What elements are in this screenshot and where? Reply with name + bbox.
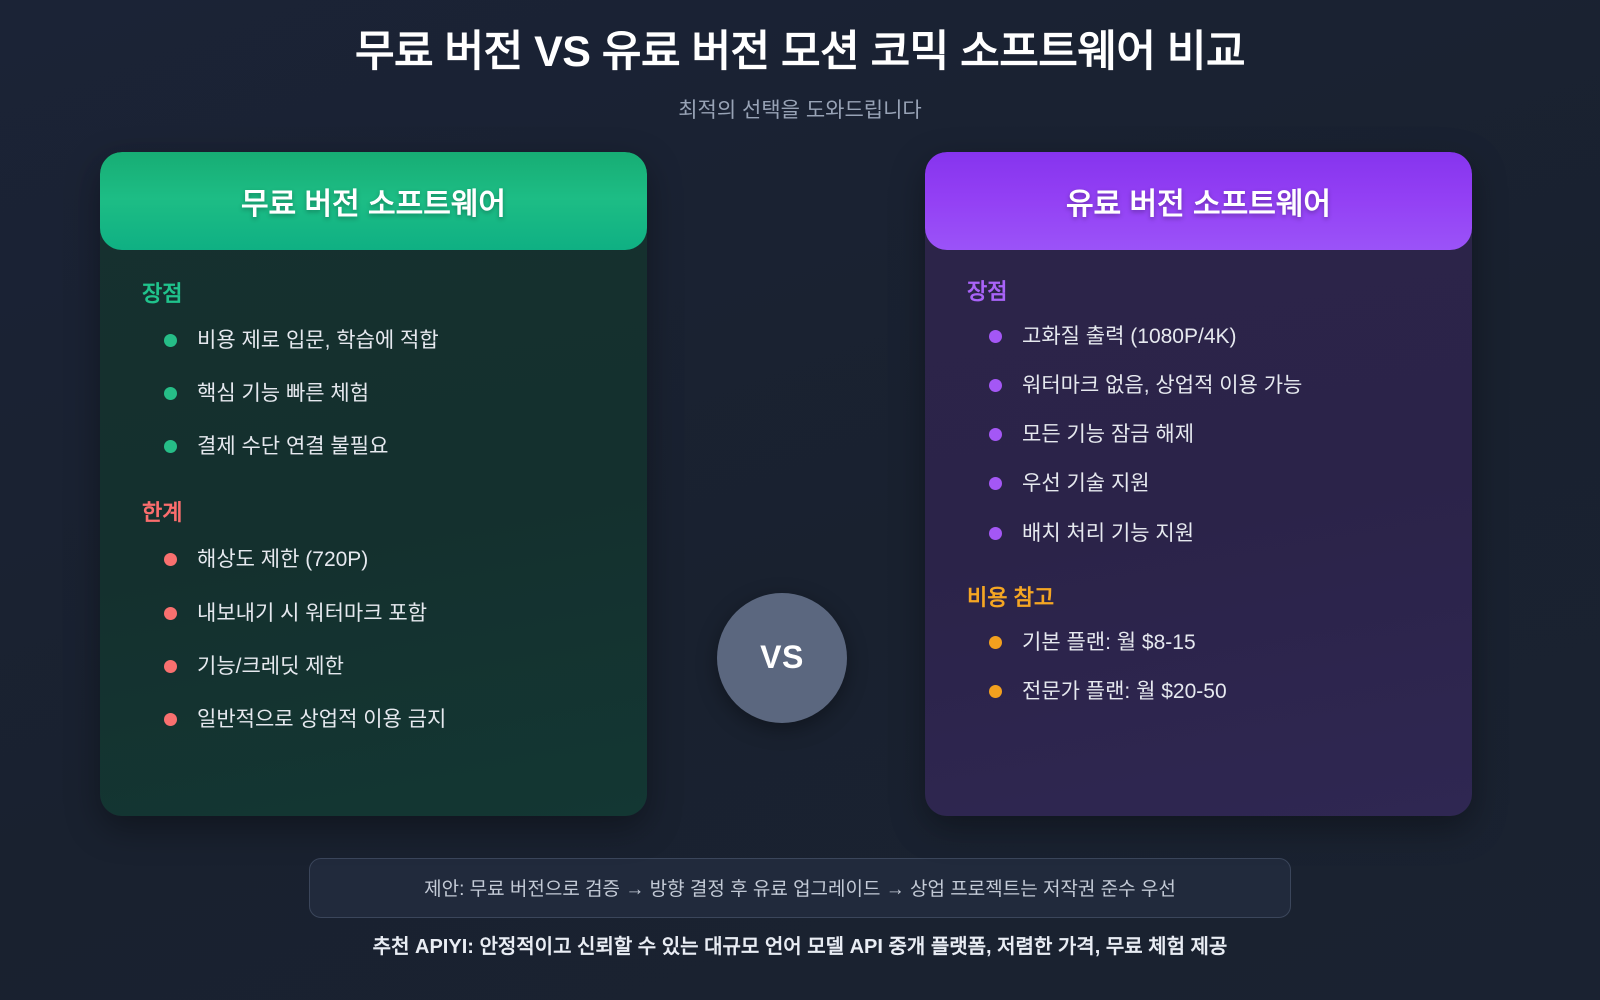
list-item-label: 핵심 기능 빠른 체험	[197, 381, 369, 406]
bullet-dot-icon	[989, 330, 1002, 343]
list-item-label: 배치 처리 기능 지원	[1022, 521, 1194, 546]
bullet-dot-icon	[989, 379, 1002, 392]
list-item-label: 기능/크레딧 제한	[197, 654, 344, 679]
free-pros-list: 비용 제로 입문, 학습에 적합 핵심 기능 빠른 체험 결제 수단 연결 불필…	[142, 314, 605, 474]
bullet-dot-icon	[989, 428, 1002, 441]
list-item: 배치 처리 기능 지원	[967, 509, 1430, 558]
paid-pros-list: 고화질 출력 (1080P/4K) 워터마크 없음, 상업적 이용 가능 모든 …	[967, 312, 1430, 558]
free-cons-section: 한계 해상도 제한 (720P) 내보내기 시 워터마크 포함 기능/크레	[142, 495, 605, 746]
free-card-body: 장점 비용 제로 입문, 학습에 적합 핵심 기능 빠른 체험 결제 수단	[100, 250, 647, 746]
list-item-label: 전문가 플랜: 월 $20-50	[1022, 679, 1227, 704]
bullet-dot-icon	[164, 387, 177, 400]
paid-pros-section: 장점 고화질 출력 (1080P/4K) 워터마크 없음, 상업적 이용 가능	[967, 274, 1430, 558]
free-pros-title: 장점	[142, 276, 605, 308]
list-item: 해상도 제한 (720P)	[142, 533, 605, 586]
bullet-dot-icon	[989, 636, 1002, 649]
list-item: 비용 제로 입문, 학습에 적합	[142, 314, 605, 367]
vs-badge-label: VS	[760, 639, 804, 676]
list-item-label: 내보내기 시 워터마크 포함	[197, 601, 427, 626]
list-item-label: 우선 기술 지원	[1022, 471, 1150, 496]
bullet-dot-icon	[164, 713, 177, 726]
list-item: 고화질 출력 (1080P/4K)	[967, 312, 1430, 361]
free-version-card: 무료 버전 소프트웨어 장점 비용 제로 입문, 학습에 적합 핵심 기능 빠른…	[100, 152, 647, 816]
free-pros-section: 장점 비용 제로 입문, 학습에 적합 핵심 기능 빠른 체험 결제 수단	[142, 276, 605, 474]
list-item-label: 모든 기능 잠금 해제	[1022, 422, 1194, 447]
paid-card-body: 장점 고화질 출력 (1080P/4K) 워터마크 없음, 상업적 이용 가능	[925, 250, 1472, 716]
bullet-dot-icon	[164, 607, 177, 620]
list-item-label: 결제 수단 연결 불필요	[197, 434, 388, 459]
list-item: 우선 기술 지원	[967, 459, 1430, 508]
paid-card-title: 유료 버전 소프트웨어	[1066, 179, 1331, 223]
list-item-label: 비용 제로 입문, 학습에 적합	[197, 328, 439, 353]
paid-card-header: 유료 버전 소프트웨어	[925, 152, 1472, 250]
list-item: 일반적으로 상업적 이용 금지	[142, 693, 605, 746]
list-item: 결제 수단 연결 불필요	[142, 420, 605, 473]
footer: 제안: 무료 버전으로 검증 → 방향 결정 후 유료 업그레이드 → 상업 프…	[0, 842, 1600, 959]
list-item-label: 기본 플랜: 월 $8-15	[1022, 630, 1196, 655]
paid-cost-list: 기본 플랜: 월 $8-15 전문가 플랜: 월 $20-50	[967, 618, 1430, 716]
paid-version-card: 유료 버전 소프트웨어 장점 고화질 출력 (1080P/4K) 워터마크 없음…	[925, 152, 1472, 816]
bullet-dot-icon	[164, 440, 177, 453]
bullet-dot-icon	[989, 527, 1002, 540]
bullet-dot-icon	[164, 660, 177, 673]
free-cons-list: 해상도 제한 (720P) 내보내기 시 워터마크 포함 기능/크레딧 제한	[142, 533, 605, 746]
bullet-dot-icon	[989, 685, 1002, 698]
list-item-label: 고화질 출력 (1080P/4K)	[1022, 324, 1237, 349]
paid-pros-title: 장점	[967, 274, 1430, 306]
page-subtitle: 최적의 선택을 도와드립니다	[0, 94, 1600, 124]
bullet-dot-icon	[989, 477, 1002, 490]
comparison-area: 무료 버전 소프트웨어 장점 비용 제로 입문, 학습에 적합 핵심 기능 빠른…	[0, 152, 1600, 842]
list-item-label: 일반적으로 상업적 이용 금지	[197, 707, 446, 732]
paid-cost-section: 비용 참고 기본 플랜: 월 $8-15 전문가 플랜: 월 $20-50	[967, 580, 1430, 716]
list-item: 핵심 기능 빠른 체험	[142, 367, 605, 420]
free-cons-title: 한계	[142, 495, 605, 527]
promo-text: 추천 APIYI: 안정적이고 신뢰할 수 있는 대규모 언어 모델 API 중…	[373, 930, 1228, 959]
list-item: 내보내기 시 워터마크 포함	[142, 587, 605, 640]
list-item: 기본 플랜: 월 $8-15	[967, 618, 1430, 667]
list-item: 모든 기능 잠금 해제	[967, 410, 1430, 459]
list-item: 기능/크레딧 제한	[142, 640, 605, 693]
free-card-title: 무료 버전 소프트웨어	[241, 179, 506, 223]
advice-box: 제안: 무료 버전으로 검증 → 방향 결정 후 유료 업그레이드 → 상업 프…	[309, 858, 1291, 918]
list-item-label: 해상도 제한 (720P)	[197, 547, 368, 572]
paid-cost-title: 비용 참고	[967, 580, 1430, 612]
header: 무료 버전 VS 유료 버전 모션 코믹 소프트웨어 비교 최적의 선택을 도와…	[0, 0, 1600, 124]
bullet-dot-icon	[164, 553, 177, 566]
page-title: 무료 버전 VS 유료 버전 모션 코믹 소프트웨어 비교	[0, 26, 1600, 80]
list-item: 워터마크 없음, 상업적 이용 가능	[967, 361, 1430, 410]
comparison-infographic: 무료 버전 VS 유료 버전 모션 코믹 소프트웨어 비교 최적의 선택을 도와…	[0, 0, 1600, 1000]
advice-text: 제안: 무료 버전으로 검증 → 방향 결정 후 유료 업그레이드 → 상업 프…	[424, 874, 1176, 901]
list-item-label: 워터마크 없음, 상업적 이용 가능	[1022, 373, 1302, 398]
vs-badge: VS	[717, 593, 847, 723]
list-item: 전문가 플랜: 월 $20-50	[967, 667, 1430, 716]
bullet-dot-icon	[164, 334, 177, 347]
free-card-header: 무료 버전 소프트웨어	[100, 152, 647, 250]
